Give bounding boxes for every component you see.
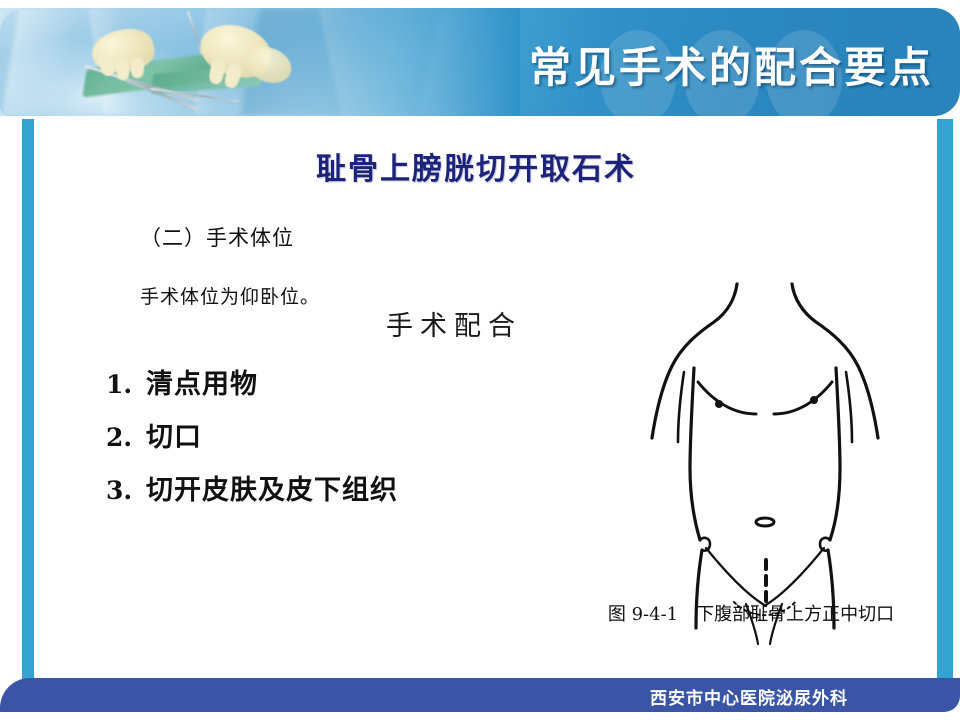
- list-item: 1. 清点用物: [106, 362, 398, 401]
- list-item-number: 1.: [106, 370, 146, 399]
- body-text: 手术体位为仰卧位。: [140, 282, 320, 309]
- list-item: 2. 切口: [106, 415, 398, 454]
- list-item: 3. 切开皮肤及皮下组织: [106, 468, 398, 507]
- list-item-label: 切口: [146, 415, 202, 454]
- page-title: 常见手术的配合要点: [529, 34, 934, 95]
- slide-canvas: 常见手术的配合要点 耻骨上膀胱切开取石术 （二）手术体位 手术体位为仰卧位。 手…: [0, 0, 960, 720]
- nipple-mark: [810, 396, 818, 404]
- header-banner: 常见手术的配合要点: [0, 8, 960, 116]
- section-heading: （二）手术体位: [140, 222, 294, 252]
- list-item-number: 3.: [106, 476, 146, 505]
- nipple-mark: [715, 400, 723, 408]
- photo-fade-overlay: [290, 8, 520, 116]
- surgical-scene-photo: [0, 8, 520, 116]
- procedure-step-list: 1. 清点用物 2. 切口 3. 切开皮肤及皮下组织: [106, 362, 398, 521]
- figure-caption: 图 9-4-1 下腹部耻骨上方正中切口: [576, 600, 926, 626]
- scan-heading: 手术配合: [386, 304, 522, 343]
- list-item-number: 2.: [106, 423, 146, 452]
- glove-finger: [131, 58, 145, 78]
- list-item-label: 清点用物: [146, 362, 258, 401]
- content-panel: 耻骨上膀胱切开取石术 （二）手术体位 手术体位为仰卧位。 手术配合 1. 清点用…: [36, 122, 934, 678]
- footer-organization-label: 西安市中心医院泌尿外科: [650, 684, 848, 709]
- right-accent-strip: [937, 119, 953, 683]
- left-accent-strip: [22, 119, 34, 683]
- procedure-title: 耻骨上膀胱切开取石术: [36, 144, 916, 188]
- list-item-label: 切开皮肤及皮下组织: [146, 468, 398, 507]
